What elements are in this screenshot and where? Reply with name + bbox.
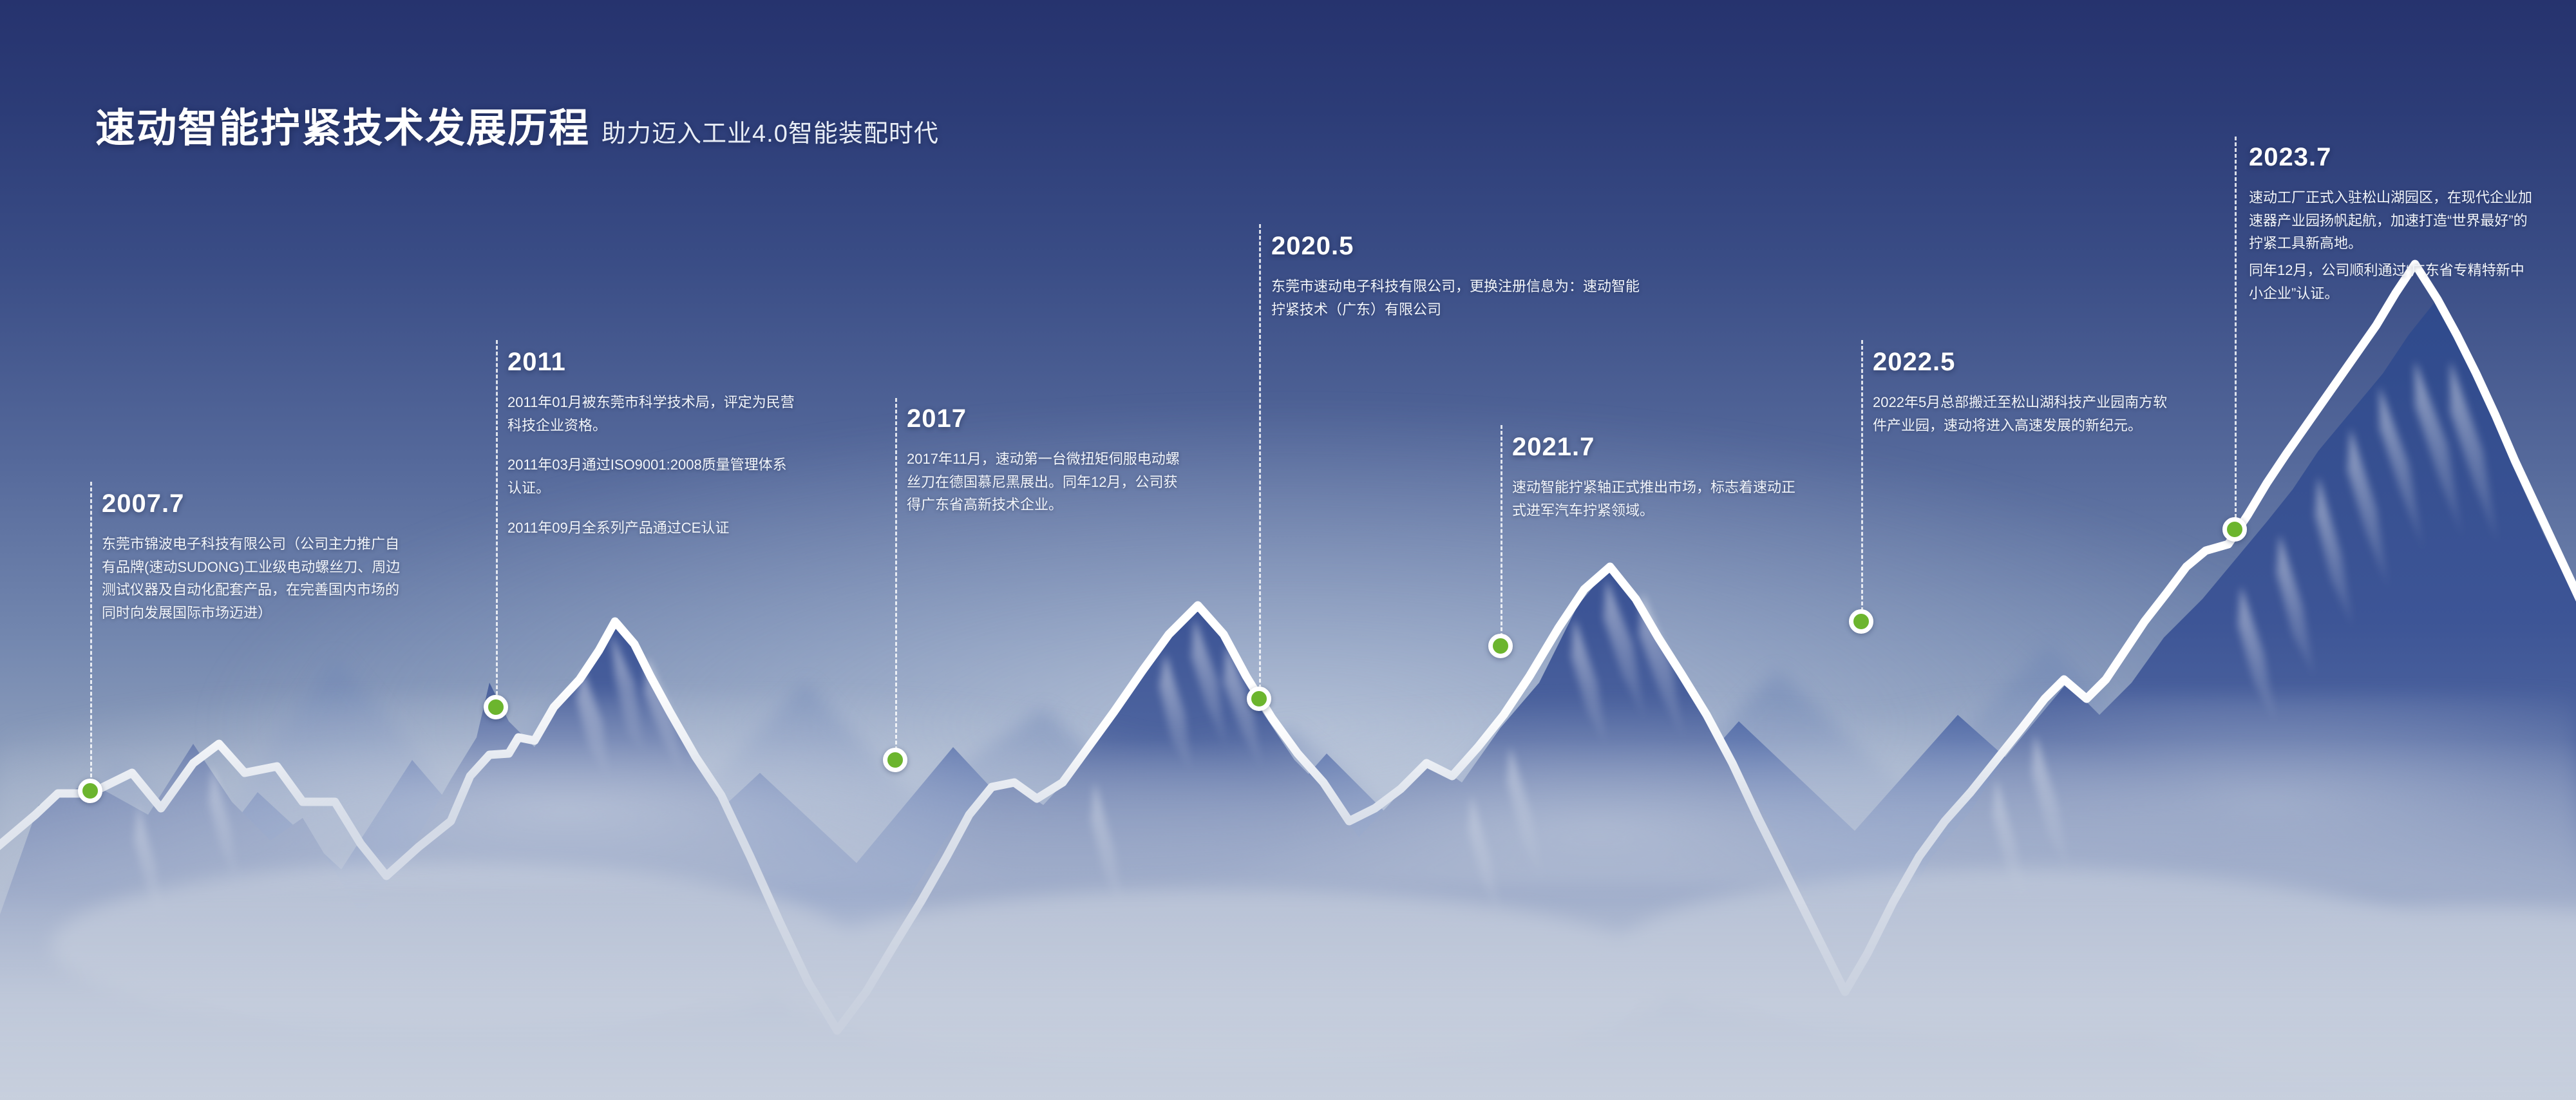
milestone-year: 2011	[507, 348, 797, 377]
milestone-dot-2023[interactable]	[2222, 517, 2247, 542]
milestone-body: 速动工厂正式入驻松山湖园区，在现代企业加速器产业园扬帆起航，加速打造“世界最好”…	[2249, 186, 2532, 305]
milestone-card-2017[interactable]: 2017 2017年11月，速动第一台微扭矩伺服电动螺丝刀在德国慕尼黑展出。同年…	[907, 404, 1184, 517]
milestone-body: 东莞市速动电子科技有限公司，更换注册信息为：速动智能拧紧技术（广东）有限公司	[1271, 275, 1645, 321]
milestone-body: 2011年01月被东莞市科学技术局，评定为民营科技企业资格。 2011年03月通…	[507, 391, 797, 539]
connector-line-2007	[90, 482, 92, 783]
milestone-paragraph: 2011年03月通过ISO9001:2008质量管理体系认证。	[507, 453, 797, 499]
milestone-paragraph: 同年12月，公司顺利通过“广东省专精特新中小企业”认证。	[2249, 259, 2532, 305]
milestone-dot-2020[interactable]	[1247, 687, 1271, 711]
connector-line-2023	[2235, 137, 2237, 529]
header: 速动智能拧紧技术发展历程 助力迈入工业4.0智能装配时代	[95, 95, 939, 153]
milestone-paragraph: 2011年01月被东莞市科学技术局，评定为民营科技企业资格。	[507, 391, 797, 437]
milestone-body: 东莞市锦波电子科技有限公司（公司主力推广自有品牌(速动SUDONG)工业级电动螺…	[102, 533, 404, 625]
milestone-card-2011[interactable]: 2011 2011年01月被东莞市科学技术局，评定为民营科技企业资格。 2011…	[507, 348, 797, 539]
page-subtitle: 助力迈入工业4.0智能装配时代	[601, 113, 939, 149]
milestone-card-2022[interactable]: 2022.5 2022年5月总部搬迁至松山湖科技产业园南方软件产业园，速动将进入…	[1873, 348, 2169, 437]
milestone-card-2007[interactable]: 2007.7 东莞市锦波电子科技有限公司（公司主力推广自有品牌(速动SUDONG…	[102, 489, 404, 625]
milestone-dot-2011[interactable]	[484, 695, 508, 719]
milestone-year: 2023.7	[2249, 143, 2532, 172]
connector-line-2011	[496, 340, 498, 701]
milestone-paragraph: 东莞市锦波电子科技有限公司（公司主力推广自有品牌(速动SUDONG)工业级电动螺…	[102, 533, 404, 625]
milestone-card-2023[interactable]: 2023.7 速动工厂正式入驻松山湖园区，在现代企业加速器产业园扬帆起航，加速打…	[2249, 143, 2532, 305]
page-title: 速动智能拧紧技术发展历程	[95, 95, 590, 153]
milestone-paragraph: 2022年5月总部搬迁至松山湖科技产业园南方软件产业园，速动将进入高速发展的新纪…	[1873, 391, 2169, 437]
milestone-card-2020[interactable]: 2020.5 东莞市速动电子科技有限公司，更换注册信息为：速动智能拧紧技术（广东…	[1271, 232, 1645, 321]
milestone-dot-2021[interactable]	[1488, 634, 1513, 658]
milestone-paragraph: 东莞市速动电子科技有限公司，更换注册信息为：速动智能拧紧技术（广东）有限公司	[1271, 275, 1645, 321]
milestone-year: 2021.7	[1512, 433, 1802, 462]
milestone-year: 2017	[907, 404, 1184, 433]
timeline-infographic: 速动智能拧紧技术发展历程 助力迈入工业4.0智能装配时代 2007.7 东莞市锦…	[0, 0, 2576, 1100]
milestone-body: 速动智能拧紧轴正式推出市场，标志着速动正式进军汽车拧紧领域。	[1512, 476, 1802, 522]
milestone-paragraph: 速动智能拧紧轴正式推出市场，标志着速动正式进军汽车拧紧领域。	[1512, 476, 1802, 522]
milestone-paragraph: 2017年11月，速动第一台微扭矩伺服电动螺丝刀在德国慕尼黑展出。同年12月，公…	[907, 448, 1184, 517]
milestone-dot-2007[interactable]	[78, 779, 102, 803]
milestone-body: 2017年11月，速动第一台微扭矩伺服电动螺丝刀在德国慕尼黑展出。同年12月，公…	[907, 448, 1184, 517]
milestone-dot-2017[interactable]	[883, 748, 907, 772]
connector-line-2020	[1259, 224, 1261, 694]
connector-line-2017	[895, 398, 897, 756]
milestone-year: 2007.7	[102, 489, 404, 518]
milestone-body: 2022年5月总部搬迁至松山湖科技产业园南方软件产业园，速动将进入高速发展的新纪…	[1873, 391, 2169, 437]
milestone-year: 2020.5	[1271, 232, 1645, 261]
milestone-dot-2022[interactable]	[1849, 609, 1873, 634]
connector-line-2022	[1861, 340, 1863, 617]
milestone-card-2021[interactable]: 2021.7 速动智能拧紧轴正式推出市场，标志着速动正式进军汽车拧紧领域。	[1512, 433, 1802, 522]
milestone-paragraph: 2011年09月全系列产品通过CE认证	[507, 517, 797, 540]
milestone-year: 2022.5	[1873, 348, 2169, 377]
connector-line-2021	[1501, 425, 1502, 643]
milestone-paragraph: 速动工厂正式入驻松山湖园区，在现代企业加速器产业园扬帆起航，加速打造“世界最好”…	[2249, 186, 2532, 255]
